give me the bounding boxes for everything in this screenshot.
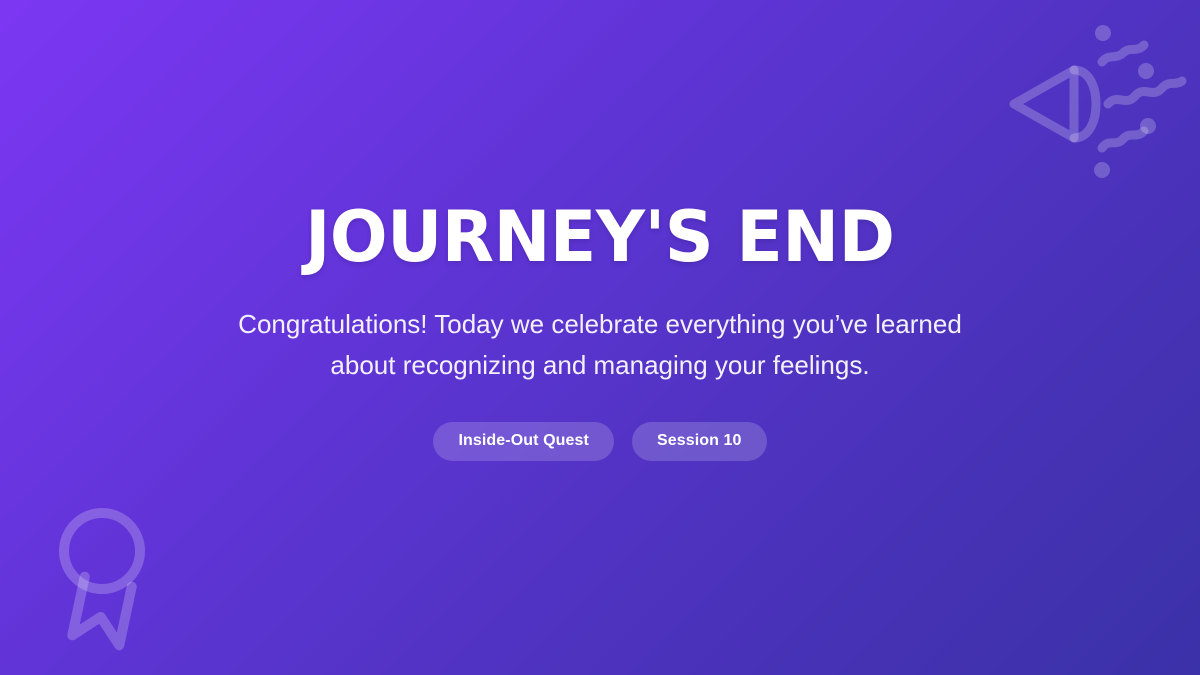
tag-pill-session[interactable]: Session 10 bbox=[632, 422, 767, 461]
slide-content: Journey's End Congratulations! Today we … bbox=[0, 0, 1200, 675]
slide-canvas: Journey's End Congratulations! Today we … bbox=[0, 0, 1200, 675]
slide-tag-pills: Inside-Out Quest Session 10 bbox=[433, 422, 766, 461]
slide-subtitle: Congratulations! Today we celebrate ever… bbox=[220, 304, 980, 386]
tag-pill-quest[interactable]: Inside-Out Quest bbox=[433, 422, 614, 461]
slide-title: Journey's End bbox=[305, 202, 894, 273]
